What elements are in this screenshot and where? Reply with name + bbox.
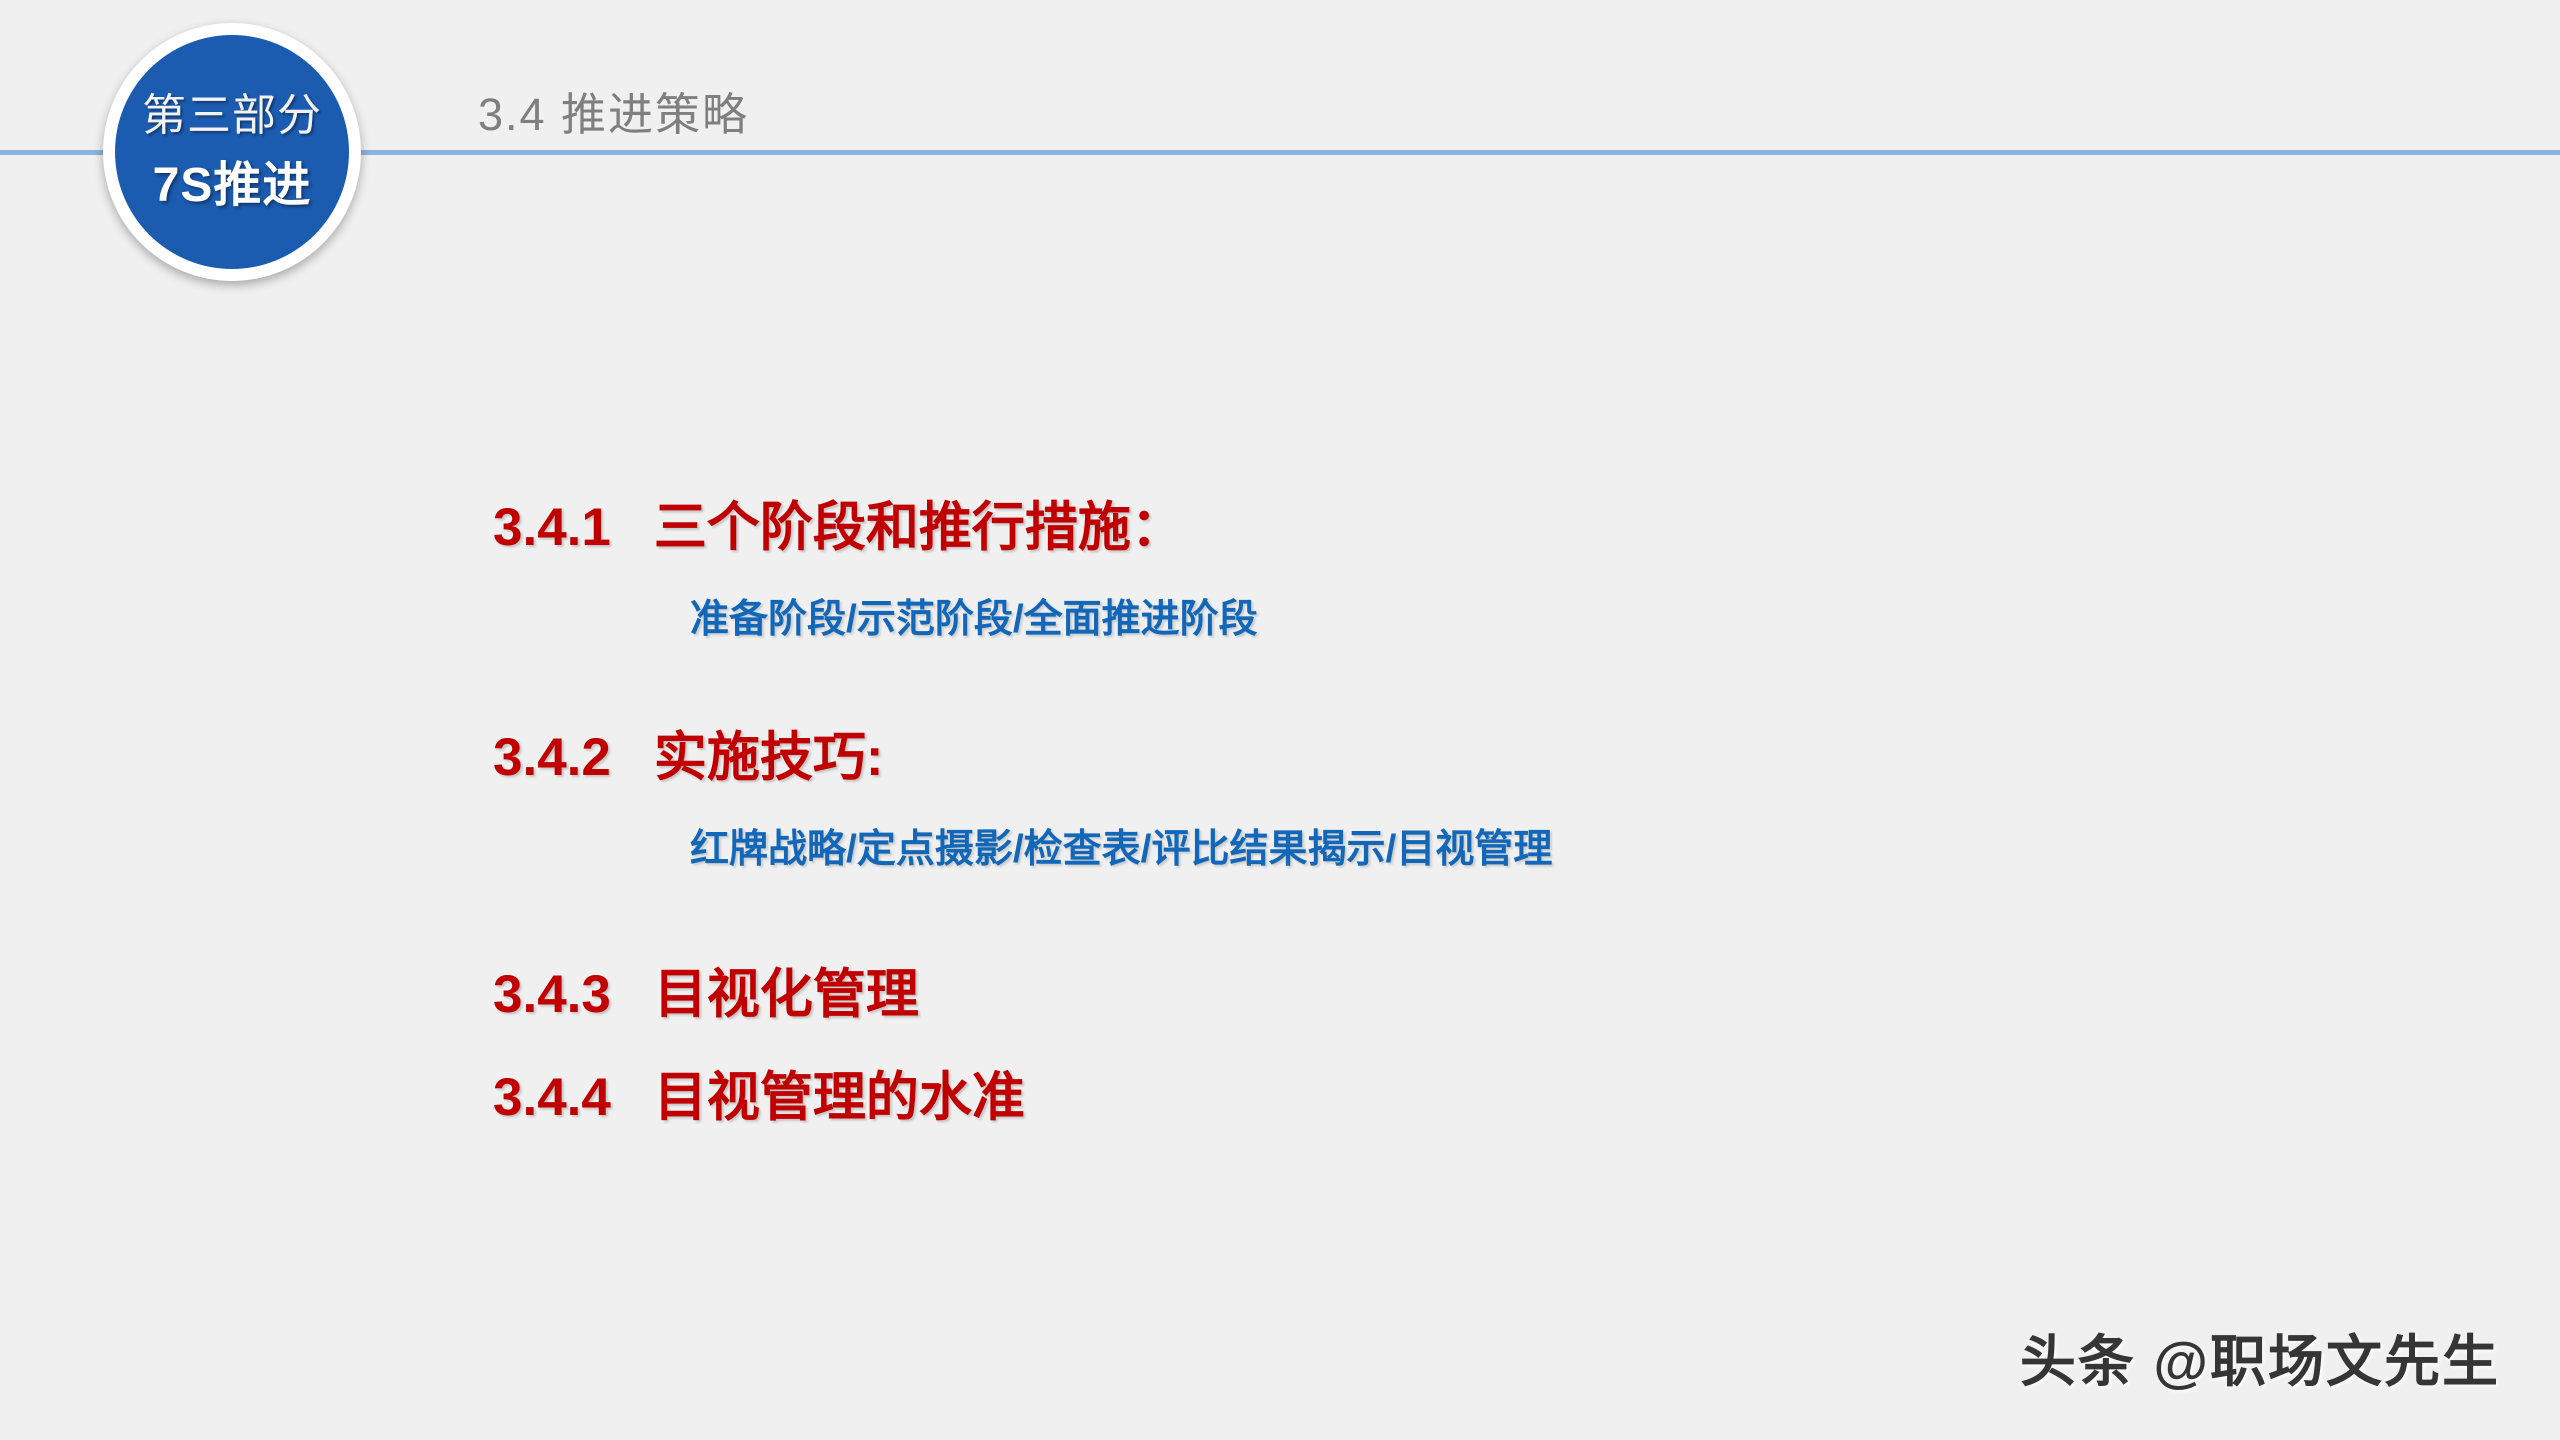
section-badge-disc: 第三部分 7S推进	[115, 35, 349, 269]
outline-item-2-subtitle: 红牌战略/定点摄影/检查表/评比结果揭示/目视管理	[690, 818, 1552, 874]
outline-item-1-head: 3.4.1 三个阶段和推行措施：	[493, 485, 1184, 561]
outline-item-2-head: 3.4.2 实施技巧:	[493, 715, 884, 791]
badge-topic-label: 7S推进	[153, 161, 312, 211]
header-divider-rule	[0, 150, 2560, 155]
watermark-text: 头条 @职场文先生	[2020, 1317, 2500, 1398]
outline-item-4-title: 目视管理的水准	[654, 1055, 1025, 1131]
outline-item-4-head: 3.4.4 目视管理的水准	[493, 1055, 1025, 1131]
section-badge: 第三部分 7S推进	[103, 23, 361, 281]
outline-item-2-number: 3.4.2	[493, 727, 611, 788]
outline-item-3-head: 3.4.3 目视化管理	[493, 952, 919, 1028]
outline-item-1-title: 三个阶段和推行措施：	[654, 485, 1184, 561]
outline-item-3-number: 3.4.3	[493, 964, 611, 1025]
badge-part-label: 第三部分	[142, 93, 322, 139]
outline-item-3-title: 目视化管理	[654, 952, 919, 1028]
outline-item-4-number: 3.4.4	[493, 1067, 611, 1128]
outline-item-1-subtitle: 准备阶段/示范阶段/全面推进阶段	[690, 588, 1258, 644]
slide-canvas: 第三部分 7S推进 3.4 推进策略 3.4.1 三个阶段和推行措施： 准备阶段…	[0, 0, 2560, 1440]
page-title: 3.4 推进策略	[478, 78, 749, 143]
outline-item-1-number: 3.4.1	[493, 497, 611, 558]
outline-item-2-title: 实施技巧:	[654, 715, 884, 791]
